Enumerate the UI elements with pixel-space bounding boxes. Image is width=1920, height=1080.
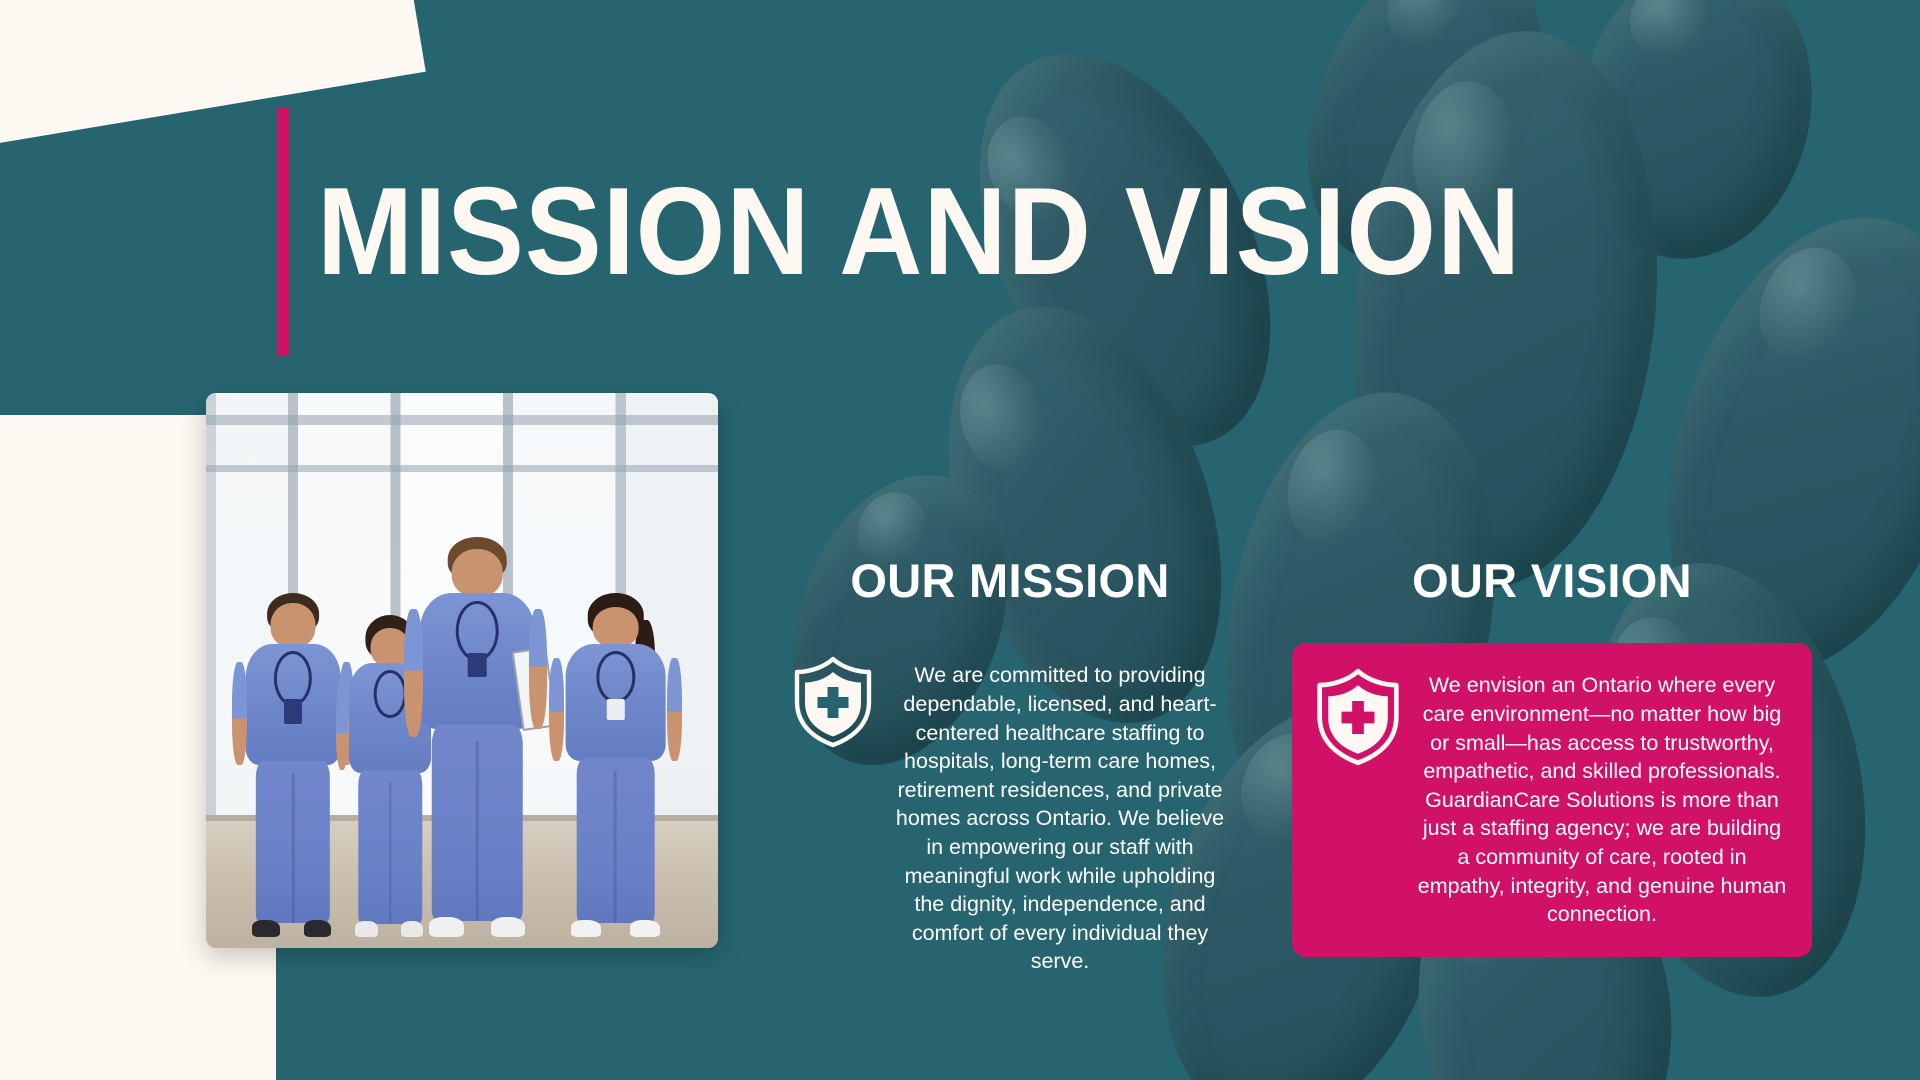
page-title: MISSION AND VISION	[317, 108, 1521, 356]
photo-person	[411, 537, 544, 937]
slide-title-block: MISSION AND VISION	[277, 108, 1612, 356]
mission-heading: OUR MISSION	[790, 556, 1230, 605]
photo-ceiling-beam	[206, 415, 718, 425]
mission-body-text: We are committed to providing dependable…	[890, 655, 1230, 976]
photo-ceiling-beam	[206, 465, 718, 472]
team-photo-image	[206, 393, 718, 948]
vision-body-text: We envision an Ontario where every care …	[1414, 667, 1790, 928]
team-photo	[206, 393, 718, 948]
vision-column: OUR VISION We envision an Ontario where …	[1292, 556, 1812, 957]
shield-medical-cross-icon	[1312, 667, 1404, 772]
vision-card: We envision an Ontario where every care …	[1292, 643, 1812, 956]
vision-heading: OUR VISION	[1292, 556, 1812, 605]
mission-card: We are committed to providing dependable…	[790, 655, 1230, 976]
photo-person	[237, 593, 350, 937]
photo-person	[554, 593, 677, 937]
mission-column: OUR MISSION We are committed to providin…	[790, 556, 1230, 976]
slide-canvas: MISSION AND VISION	[0, 0, 1920, 1080]
title-accent-bar	[277, 108, 289, 356]
shield-medical-cross-icon	[790, 655, 876, 754]
